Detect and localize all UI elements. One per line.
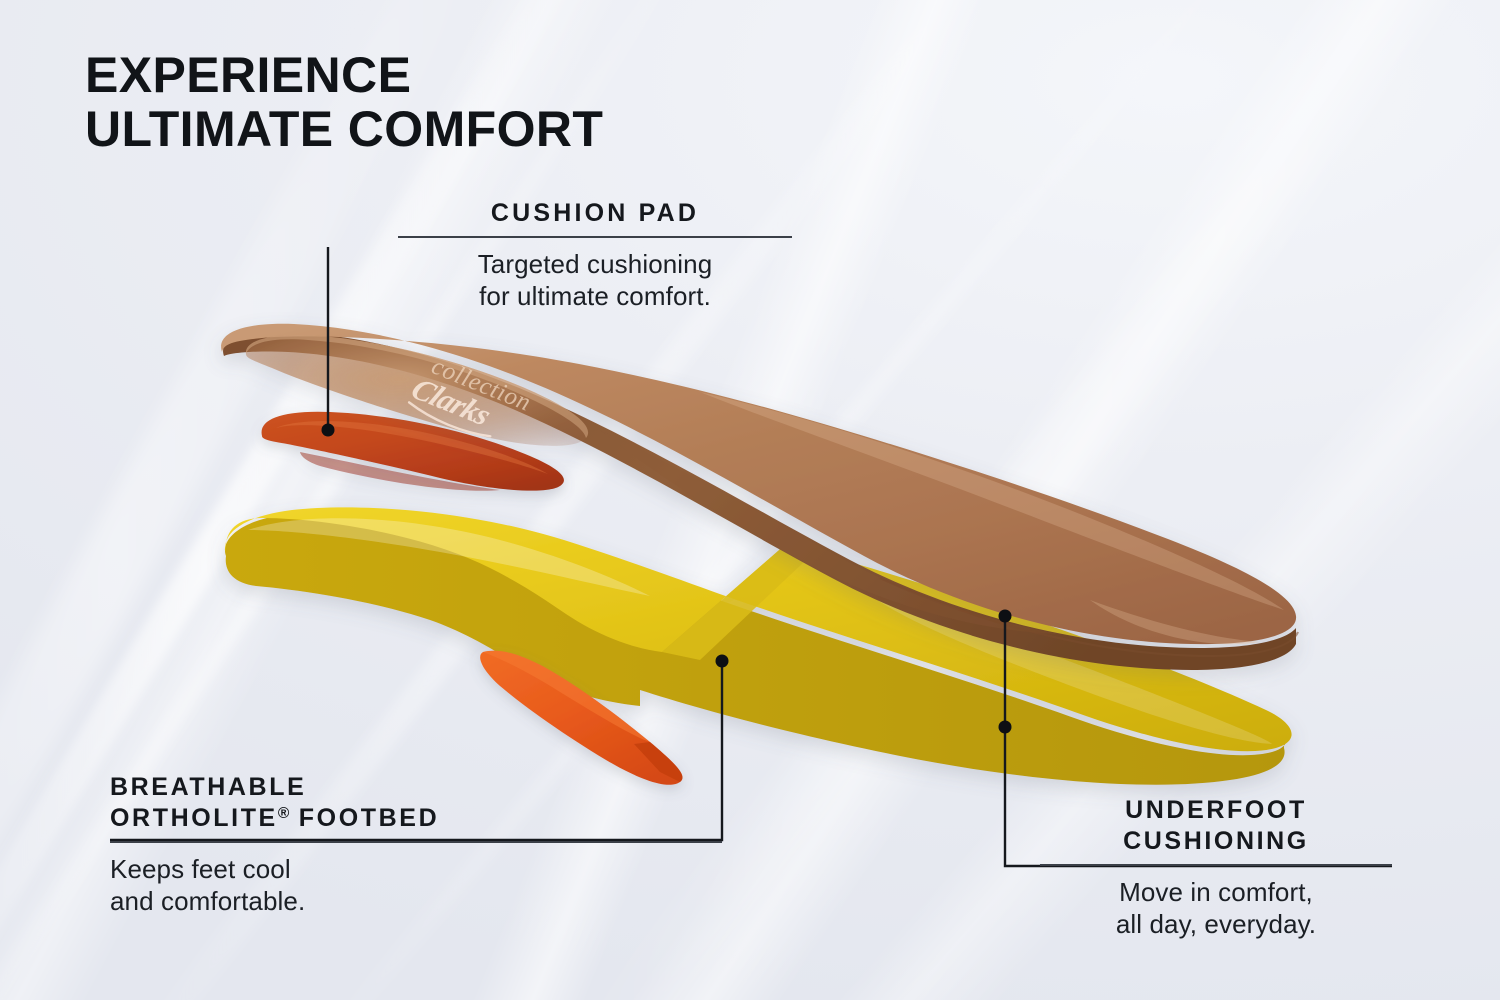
- callout-cushion-pad-rule: [398, 236, 792, 238]
- callout-underfoot-cushioning-body: Move in comfort, all day, everyday.: [1040, 877, 1392, 940]
- callout-ortholite-footbed-body: Keeps feet cool and comfortable.: [110, 854, 722, 917]
- callout-underfoot-cushioning-title: UNDERFOOT CUSHIONING: [1040, 795, 1392, 857]
- callout-underfoot-cushioning-rule: [1040, 864, 1392, 866]
- infographic-canvas: collection Clarks EXPERIENCE ULTIMATE CO…: [0, 0, 1500, 1000]
- ortholite-title-line2: ORTHOLITE: [110, 804, 278, 832]
- ortholite-title-line2-tail: FOOTBED: [289, 804, 439, 832]
- callout-cushion-pad-body: Targeted cushioning for ultimate comfort…: [398, 249, 792, 312]
- page-title: EXPERIENCE ULTIMATE COMFORT: [85, 48, 603, 156]
- callout-cushion-pad-title: CUSHION PAD: [398, 198, 792, 229]
- ortholite-title-line1: BREATHABLE: [110, 773, 306, 801]
- callout-ortholite-footbed: BREATHABLEORTHOLITE® FOOTBED Keeps feet …: [110, 772, 722, 917]
- callout-underfoot-cushioning: UNDERFOOT CUSHIONING Move in comfort, al…: [1040, 795, 1392, 940]
- callout-ortholite-footbed-title: BREATHABLEORTHOLITE® FOOTBED: [110, 772, 722, 834]
- callout-cushion-pad: CUSHION PAD Targeted cushioning for ulti…: [398, 198, 792, 312]
- registered-trademark-icon: ®: [278, 805, 289, 822]
- callout-ortholite-footbed-rule: [110, 841, 722, 843]
